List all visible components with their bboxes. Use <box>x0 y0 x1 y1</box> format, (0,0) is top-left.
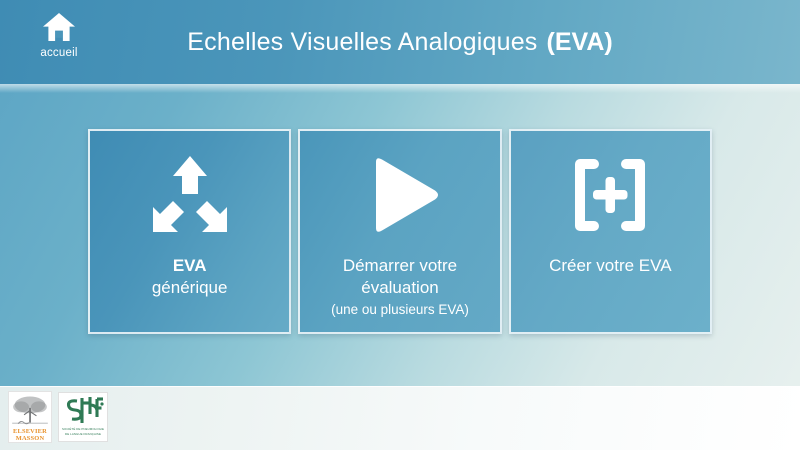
tile-label-line2: évaluation <box>361 277 439 299</box>
tile-eva-generique[interactable]: EVA générique <box>88 129 291 334</box>
play-triangle-icon <box>356 135 444 255</box>
elsevier-logo-line2: MASSON <box>16 435 45 442</box>
tile-label-line1: Créer votre EVA <box>549 255 672 277</box>
tile-label-line1: EVA <box>173 255 207 277</box>
bracket-plus-icon <box>568 135 652 255</box>
app-root: accueil Echelles Visuelles Analogiques (… <box>0 0 800 450</box>
tile-creer-eva-text: Créer votre EVA <box>511 255 710 332</box>
tile-demarrer-evaluation[interactable]: Démarrer votre évaluation (une ou plusie… <box>298 129 501 334</box>
tile-creer-eva[interactable]: Créer votre EVA <box>509 129 712 334</box>
elsevier-masson-logo: ELSEVIER MASSON <box>8 391 52 443</box>
tile-label-line2: générique <box>152 277 228 299</box>
footer-divider <box>0 386 800 387</box>
three-arrows-icon <box>147 135 233 255</box>
tile-label-line1: Démarrer votre <box>343 255 457 277</box>
page-title: Echelles Visuelles Analogiques (EVA) <box>0 0 800 84</box>
page-title-abbr: (EVA) <box>547 28 613 57</box>
splf-logo: SOCIÉTÉ DE PNEUMOLOGIE DE LANGUE FRANÇAI… <box>58 392 108 442</box>
splf-logo-caption2: DE LANGUE FRANÇAISE <box>65 433 101 437</box>
page-title-main: Echelles Visuelles Analogiques <box>187 28 537 57</box>
header-shadow <box>0 84 800 93</box>
elsevier-logo-line1: ELSEVIER <box>13 428 47 435</box>
tile-demarrer-evaluation-text: Démarrer votre évaluation (une ou plusie… <box>300 255 499 332</box>
tile-eva-generique-text: EVA générique <box>90 255 289 332</box>
tile-label-sub: (une ou plusieurs EVA) <box>331 301 469 318</box>
app-footer: ELSEVIER MASSON SOCIÉTÉ DE PNEUMOL <box>0 386 800 450</box>
app-header: accueil Echelles Visuelles Analogiques (… <box>0 0 800 84</box>
tile-grid: EVA générique Démarrer votre évaluation … <box>88 129 712 334</box>
